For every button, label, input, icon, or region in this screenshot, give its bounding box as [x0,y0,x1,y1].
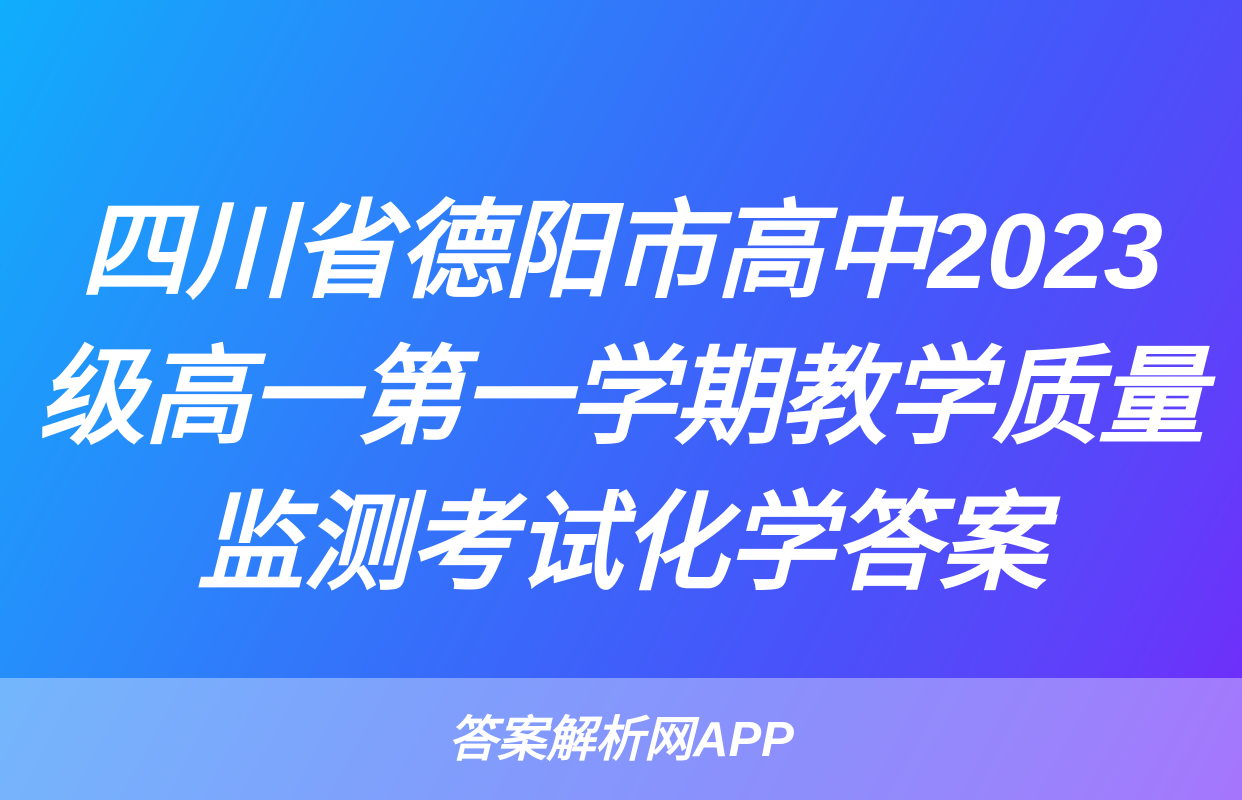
title-line-2: 级高一第一学期教学质量 [24,324,1218,470]
poster-title-block: 四川省德阳市高中2023 级高一第一学期教学质量 监测考试化学答案 [0,178,1242,618]
title-line-1: 四川省德阳市高中2023 [24,178,1218,324]
watermark-label: 答案解析网APP [448,716,794,765]
footer-watermark-band: 答案解析网APP [0,678,1242,800]
title-line-3: 监测考试化学答案 [24,470,1218,616]
poster-canvas: 四川省德阳市高中2023 级高一第一学期教学质量 监测考试化学答案 答案解析网A… [0,0,1242,800]
